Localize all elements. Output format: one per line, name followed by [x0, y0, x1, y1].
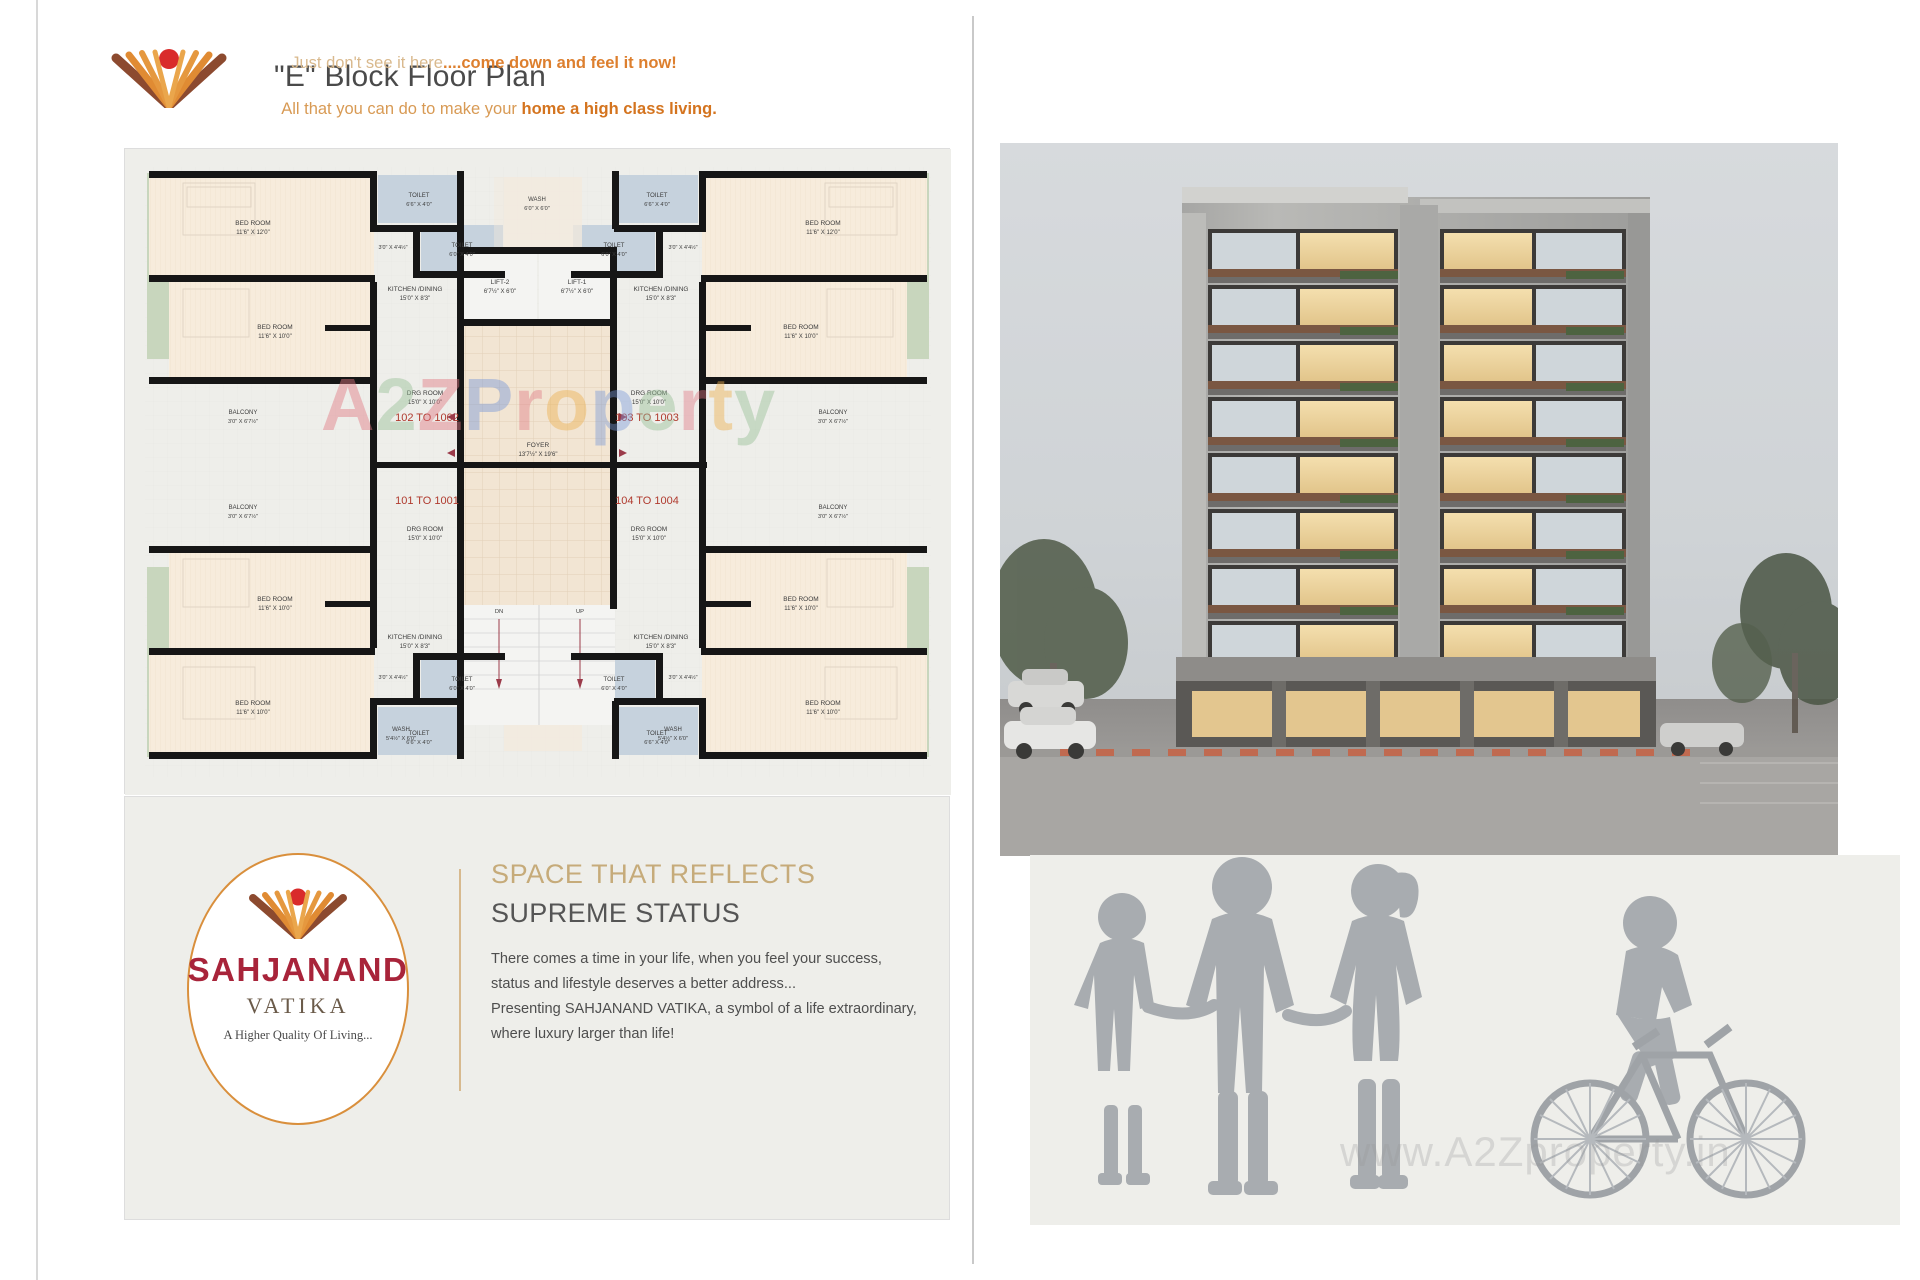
svg-text:DRG ROOM: DRG ROOM [631, 526, 667, 533]
building-render-illustration [1000, 143, 1838, 856]
svg-text:11'6" X 10'0": 11'6" X 10'0" [784, 606, 817, 612]
svg-text:11'6" X 12'0": 11'6" X 12'0" [806, 230, 839, 236]
marketing-copy: SPACE THAT REFLECTS SUPREME STATUS There… [491, 859, 921, 1047]
svg-text:BALCONY: BALCONY [819, 410, 848, 416]
svg-text:6'0" X 4'0": 6'0" X 4'0" [449, 252, 474, 258]
copy-line-4: where luxury larger than life! [491, 1022, 921, 1047]
copy-line-1: There comes a time in your life, when yo… [491, 947, 921, 972]
svg-text:6'0" X 6'0": 6'0" X 6'0" [524, 206, 549, 212]
svg-text:11'6" X 10'0": 11'6" X 10'0" [784, 334, 817, 340]
svg-text:BALCONY: BALCONY [819, 505, 848, 511]
svg-text:BED ROOM: BED ROOM [235, 700, 270, 707]
building-render [1000, 143, 1838, 856]
tagline-secondary-light: All that you can do to make your [281, 100, 521, 118]
svg-text:BED ROOM: BED ROOM [257, 324, 292, 331]
svg-text:TOILET: TOILET [647, 193, 668, 199]
family-silhouette-illustration [1030, 855, 1900, 1225]
svg-text:FOYER: FOYER [527, 442, 550, 449]
svg-text:WASH: WASH [392, 727, 410, 733]
unit-number-101: 101 TO 1001 [395, 495, 459, 507]
svg-text:DRG ROOM: DRG ROOM [407, 390, 443, 397]
svg-text:KITCHEN /DINING: KITCHEN /DINING [388, 634, 443, 641]
svg-text:11'6" X 10'0": 11'6" X 10'0" [258, 606, 291, 612]
svg-text:KITCHEN /DINING: KITCHEN /DINING [388, 286, 443, 293]
brand-tagline: A Higher Quality Of Living... [224, 1028, 373, 1043]
svg-text:6'7½" X 6'0": 6'7½" X 6'0" [561, 288, 593, 295]
svg-text:TOILET: TOILET [604, 677, 625, 683]
svg-text:11'6" X 10'0": 11'6" X 10'0" [236, 710, 269, 716]
left-page: "E" Block Floor Plan [40, 0, 972, 1280]
svg-text:6'7½" X 6'0": 6'7½" X 6'0" [484, 288, 516, 295]
svg-text:BED ROOM: BED ROOM [783, 324, 818, 331]
svg-text:KITCHEN /DINING: KITCHEN /DINING [634, 286, 689, 293]
page-edge-rule [36, 0, 38, 1280]
svg-text:BALCONY: BALCONY [229, 410, 258, 416]
copy-line-3: Presenting SAHJANAND VATIKA, a symbol of… [491, 997, 921, 1022]
family-silhouettes [1030, 855, 1900, 1225]
svg-text:TOILET: TOILET [452, 243, 473, 249]
svg-text:3'0" X 4'4½": 3'0" X 4'4½" [379, 674, 408, 681]
floor-plan-drawing: BED ROOM 11'6" X 12'0" BED ROOM 11'6" X … [125, 149, 951, 795]
svg-text:WASH: WASH [664, 727, 682, 733]
svg-text:KITCHEN /DINING: KITCHEN /DINING [634, 634, 689, 641]
floor-plan-canvas: BED ROOM 11'6" X 12'0" BED ROOM 11'6" X … [125, 149, 949, 793]
copy-headline-dark: SUPREME STATUS [491, 898, 921, 929]
copy-line-2: status and lifestyle deserves a better a… [491, 972, 921, 997]
svg-text:15'0" X 10'0": 15'0" X 10'0" [408, 400, 442, 406]
branding-panel: SAHJANAND VATIKA A Higher Quality Of Liv… [124, 796, 950, 1220]
svg-text:BED ROOM: BED ROOM [257, 596, 292, 603]
svg-text:15'0" X 8'3": 15'0" X 8'3" [400, 296, 431, 302]
floor-plan-panel: BED ROOM 11'6" X 12'0" BED ROOM 11'6" X … [124, 148, 950, 794]
svg-text:3'0" X 4'4½": 3'0" X 4'4½" [669, 674, 698, 681]
svg-text:15'0" X 10'0": 15'0" X 10'0" [632, 400, 666, 406]
svg-text:BED ROOM: BED ROOM [805, 220, 840, 227]
tagline-primary-light: Just don't see it here [291, 54, 443, 72]
svg-text:15'0" X 10'0": 15'0" X 10'0" [632, 536, 666, 542]
svg-text:6'0" X 4'0": 6'0" X 4'0" [601, 686, 626, 692]
tagline-primary: Just don't see it here....come down and … [104, 54, 864, 73]
svg-text:6'0" X 4'0": 6'0" X 4'0" [601, 252, 626, 258]
tagline-primary-bold: ....come down and feel it now! [443, 54, 677, 72]
svg-text:13'7½" X 19'6": 13'7½" X 19'6" [519, 451, 558, 458]
unit-number-104: 104 TO 1004 [615, 495, 679, 507]
svg-text:3'0" X 4'4½": 3'0" X 4'4½" [379, 244, 408, 251]
tagline-secondary: All that you can do to make your home a … [104, 100, 894, 119]
svg-text:BED ROOM: BED ROOM [783, 596, 818, 603]
svg-text:15'0" X 8'3": 15'0" X 8'3" [400, 644, 431, 650]
svg-text:LIFT-1: LIFT-1 [568, 279, 587, 286]
svg-text:UP: UP [576, 609, 584, 615]
svg-text:TOILET: TOILET [452, 677, 473, 683]
svg-text:11'6" X 12'0": 11'6" X 12'0" [236, 230, 269, 236]
svg-text:6'6" X 4'0": 6'6" X 4'0" [406, 202, 431, 208]
svg-text:DN: DN [495, 609, 503, 615]
svg-text:15'0" X 8'3": 15'0" X 8'3" [646, 296, 677, 302]
sahjanand-vatika-logo: SAHJANAND VATIKA A Higher Quality Of Liv… [187, 853, 409, 1125]
brochure-page: "E" Block Floor Plan [0, 0, 1920, 1280]
svg-text:3'0" X 6'7½": 3'0" X 6'7½" [818, 513, 848, 520]
brand-name: SAHJANAND [188, 951, 409, 989]
svg-text:6'6" X 4'0": 6'6" X 4'0" [644, 202, 669, 208]
brand-subname: VATIKA [246, 993, 349, 1019]
svg-text:3'0" X 6'7½": 3'0" X 6'7½" [228, 418, 258, 425]
copy-divider-rule [459, 869, 461, 1091]
svg-text:BED ROOM: BED ROOM [235, 220, 270, 227]
tagline-secondary-bold: home a high class living. [522, 100, 717, 118]
svg-text:TOILET: TOILET [409, 193, 430, 199]
svg-text:5'4½" X 6'0": 5'4½" X 6'0" [658, 735, 688, 742]
copy-body: There comes a time in your life, when yo… [491, 947, 921, 1047]
svg-text:BED ROOM: BED ROOM [805, 700, 840, 707]
svg-text:15'0" X 10'0": 15'0" X 10'0" [408, 536, 442, 542]
copy-headline-light: SPACE THAT REFLECTS [491, 859, 921, 890]
badge-fan-icon [239, 885, 357, 939]
svg-text:LIFT-2: LIFT-2 [491, 279, 510, 286]
svg-text:3'0" X 6'7½": 3'0" X 6'7½" [818, 418, 848, 425]
svg-text:5'4½" X 6'0": 5'4½" X 6'0" [386, 735, 416, 742]
svg-text:TOILET: TOILET [604, 243, 625, 249]
svg-text:15'0" X 8'3": 15'0" X 8'3" [646, 644, 677, 650]
svg-text:3'0" X 6'7½": 3'0" X 6'7½" [228, 513, 258, 520]
svg-text:11'6" X 10'0": 11'6" X 10'0" [258, 334, 291, 340]
svg-text:3'0" X 4'4½": 3'0" X 4'4½" [669, 244, 698, 251]
svg-text:BALCONY: BALCONY [229, 505, 258, 511]
svg-text:DRG ROOM: DRG ROOM [407, 526, 443, 533]
svg-text:6'0" X 4'0": 6'0" X 4'0" [449, 686, 474, 692]
svg-text:11'6" X 10'0": 11'6" X 10'0" [806, 710, 839, 716]
svg-text:WASH: WASH [528, 197, 546, 203]
svg-text:DRG ROOM: DRG ROOM [631, 390, 667, 397]
